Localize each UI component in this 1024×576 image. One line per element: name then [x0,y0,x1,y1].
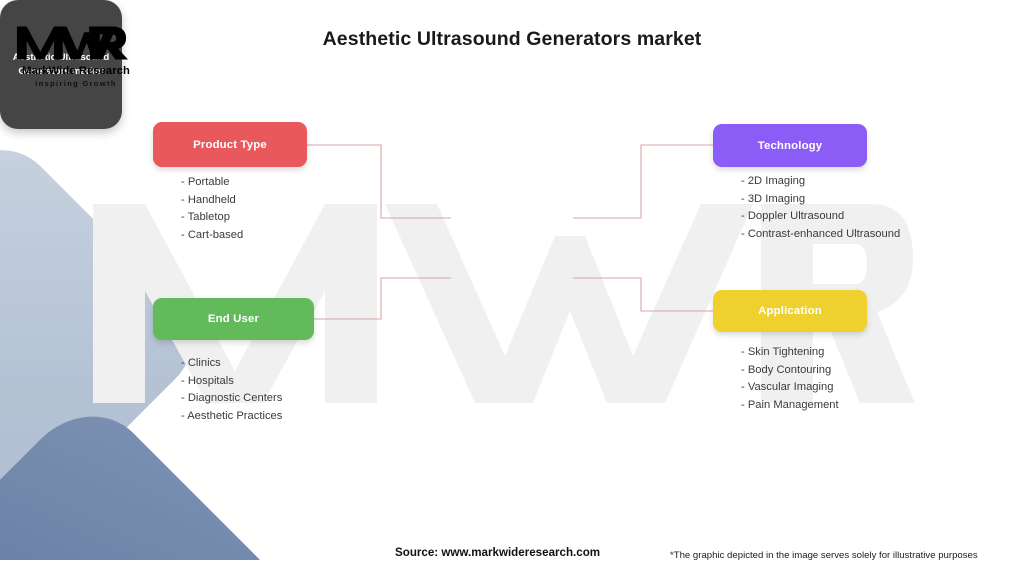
list-item: - Tabletop [181,209,243,227]
list-item: - Portable [181,174,243,192]
connector-end-user [314,278,451,319]
list-item: - Contrast-enhanced Ultrasound [741,226,900,244]
connector-application [573,278,713,311]
list-item: - Hospitals [181,373,282,391]
branch-items-product-type: - Portable - Handheld - Tabletop - Cart-… [181,174,243,244]
list-item: - Skin Tightening [741,344,839,362]
connector-technology [573,145,713,218]
branch-items-application: - Skin Tightening - Body Contouring - Va… [741,344,839,414]
branch-node-application[interactable]: Application [713,290,867,332]
branch-items-technology: - 2D Imaging - 3D Imaging - Doppler Ultr… [741,173,900,243]
list-item: - Handheld [181,192,243,210]
list-item: - 3D Imaging [741,191,900,209]
list-item: - Diagnostic Centers [181,390,282,408]
connector-product-type [307,145,451,218]
branch-label-technology: Technology [758,140,823,152]
branch-label-end-user: End User [208,313,259,325]
branch-node-end-user[interactable]: End User [153,298,314,340]
branch-node-product-type[interactable]: Product Type [153,122,307,167]
list-item: - Body Contouring [741,362,839,380]
branch-items-end-user: - Clinics - Hospitals - Diagnostic Cente… [181,355,282,425]
list-item: - 2D Imaging [741,173,900,191]
list-item: - Cart-based [181,227,243,245]
branch-node-technology[interactable]: Technology [713,124,867,167]
infographic-canvas: MarkWide Research Inspiring Growth Aesth… [0,0,1024,576]
footer-disclaimer: *The graphic depicted in the image serve… [670,550,978,561]
branch-label-product-type: Product Type [193,139,267,151]
connector-lines [0,0,1024,576]
list-item: - Pain Management [741,397,839,415]
list-item: - Clinics [181,355,282,373]
list-item: - Doppler Ultrasound [741,208,900,226]
list-item: - Vascular Imaging [741,379,839,397]
branch-label-application: Application [758,305,822,317]
list-item: - Aesthetic Practices [181,408,282,426]
footer-source: Source: www.markwideresearch.com [395,546,600,559]
